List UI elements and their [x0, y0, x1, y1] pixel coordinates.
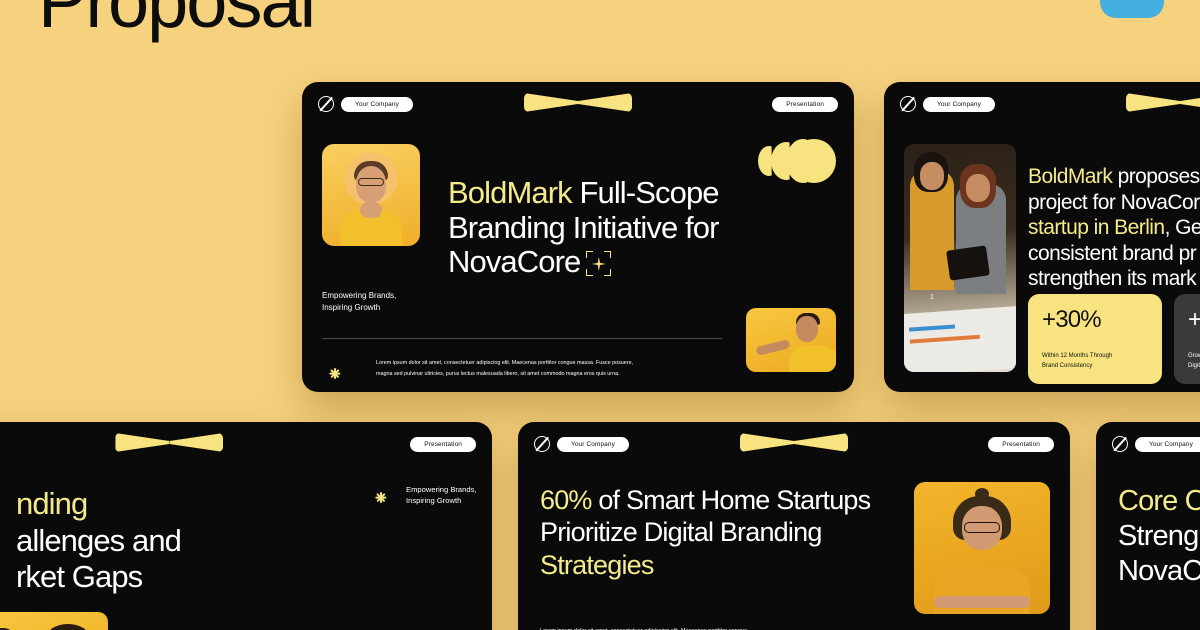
- circle-slash-icon: [900, 96, 916, 112]
- stats-title-hl-1: BoldMark: [1028, 165, 1112, 188]
- hero-title-highlight: BoldMark: [448, 175, 572, 210]
- slides-stage: Proposal Your Company Presentation BoldM…: [0, 0, 1200, 630]
- page-title: Proposal: [38, 0, 314, 39]
- stat-card-dark: +2 Growth Digital: [1174, 294, 1200, 384]
- bowtie-shape: [524, 93, 632, 112]
- starburst-icon: [322, 360, 348, 386]
- company-pill[interactable]: Your Company: [341, 97, 413, 112]
- slide-card-hero[interactable]: Your Company Presentation BoldMark Full-…: [302, 82, 854, 392]
- stats-title-hl-2: startup in Berlin: [1028, 216, 1165, 239]
- stat60-title: 60% of Smart Home Startups Prioritize Di…: [540, 484, 880, 581]
- stat60-photo: [914, 482, 1050, 614]
- stat-card-caption: Growth Digital: [1188, 351, 1200, 371]
- slide-card-core[interactable]: Your Company Core C Streng NovaC: [1096, 422, 1200, 630]
- company-pill[interactable]: Your Company: [1135, 437, 1200, 452]
- bowtie-shape: [115, 433, 223, 452]
- slide-topbar: Company Presentation: [0, 422, 492, 466]
- divider: [322, 338, 722, 339]
- slide-card-gaps[interactable]: Company Presentation nding allenges and …: [0, 422, 492, 630]
- stats-title: BoldMark proposes project for NovaCor st…: [1028, 164, 1200, 292]
- gaps-photo: [0, 612, 108, 630]
- core-title-line-3: NovaC: [1118, 555, 1200, 587]
- blob-cluster-icon: [758, 138, 836, 184]
- stats-title-line-2: project for NovaCor: [1028, 191, 1200, 214]
- stat-card-value: +2: [1188, 306, 1200, 334]
- core-title-line-2: Streng: [1118, 520, 1198, 552]
- gaps-title-highlight: nding: [16, 486, 87, 521]
- slide-card-stats[interactable]: Your Company 1 BoldMark proposes project…: [884, 82, 1200, 392]
- circle-slash-icon: [534, 436, 550, 452]
- hero-body-text: Lorem ipsum dolor sit amet, consectetuer…: [376, 358, 676, 381]
- hero-portrait-photo: [322, 144, 420, 246]
- gaps-title-line-2: allenges and: [16, 523, 181, 558]
- stats-photo: 1: [904, 144, 1016, 372]
- gaps-title-line-3: rket Gaps: [16, 559, 142, 594]
- stat60-title-hl-2: Strategies: [540, 550, 654, 580]
- slide-card-stat60[interactable]: Your Company Presentation 60% of Smart H…: [518, 422, 1070, 630]
- blue-accent-chip: [1100, 0, 1164, 18]
- stat60-title-hl-1: 60%: [540, 485, 592, 515]
- starburst-icon: [368, 484, 394, 510]
- bowtie-shape: [1126, 93, 1200, 112]
- stat60-body-text: Lorem ipsum dolor sit amet, consectetuer…: [540, 626, 790, 630]
- circle-slash-icon: [318, 96, 334, 112]
- stat-card-value: +30%: [1042, 306, 1148, 334]
- stats-title-mid-1: proposes: [1112, 165, 1199, 188]
- bowtie-shape: [740, 433, 848, 452]
- hero-tagline: Empowering Brands, Inspiring Growth: [322, 290, 396, 314]
- circle-slash-icon: [1112, 436, 1128, 452]
- stats-title-mid-2: , Ge: [1165, 216, 1200, 239]
- photo-number: 1: [930, 294, 934, 301]
- company-pill[interactable]: Your Company: [557, 437, 629, 452]
- gaps-tagline: Empowering Brands, Inspiring Growth: [406, 484, 477, 507]
- company-pill[interactable]: Your Company: [923, 97, 995, 112]
- presentation-pill[interactable]: Presentation: [410, 437, 476, 452]
- hero-title: BoldMark Full-Scope Branding Initiative …: [448, 176, 778, 280]
- stats-title-line-4: consistent brand pr: [1028, 242, 1196, 265]
- core-title: Core C Streng NovaC: [1118, 484, 1200, 588]
- stat-card-yellow: +30% Within 12 Months Through Brand Cons…: [1028, 294, 1162, 384]
- core-title-highlight: Core C: [1118, 485, 1200, 517]
- presentation-pill[interactable]: Presentation: [772, 97, 838, 112]
- slide-topbar: Your Company: [1096, 422, 1200, 466]
- stat-card-caption: Within 12 Months Through Brand Consisten…: [1042, 351, 1112, 371]
- hero-secondary-photo: [746, 308, 836, 372]
- sparkle-icon: [586, 251, 611, 276]
- presentation-pill[interactable]: Presentation: [988, 437, 1054, 452]
- stats-title-line-5: strengthen its mark: [1028, 267, 1196, 290]
